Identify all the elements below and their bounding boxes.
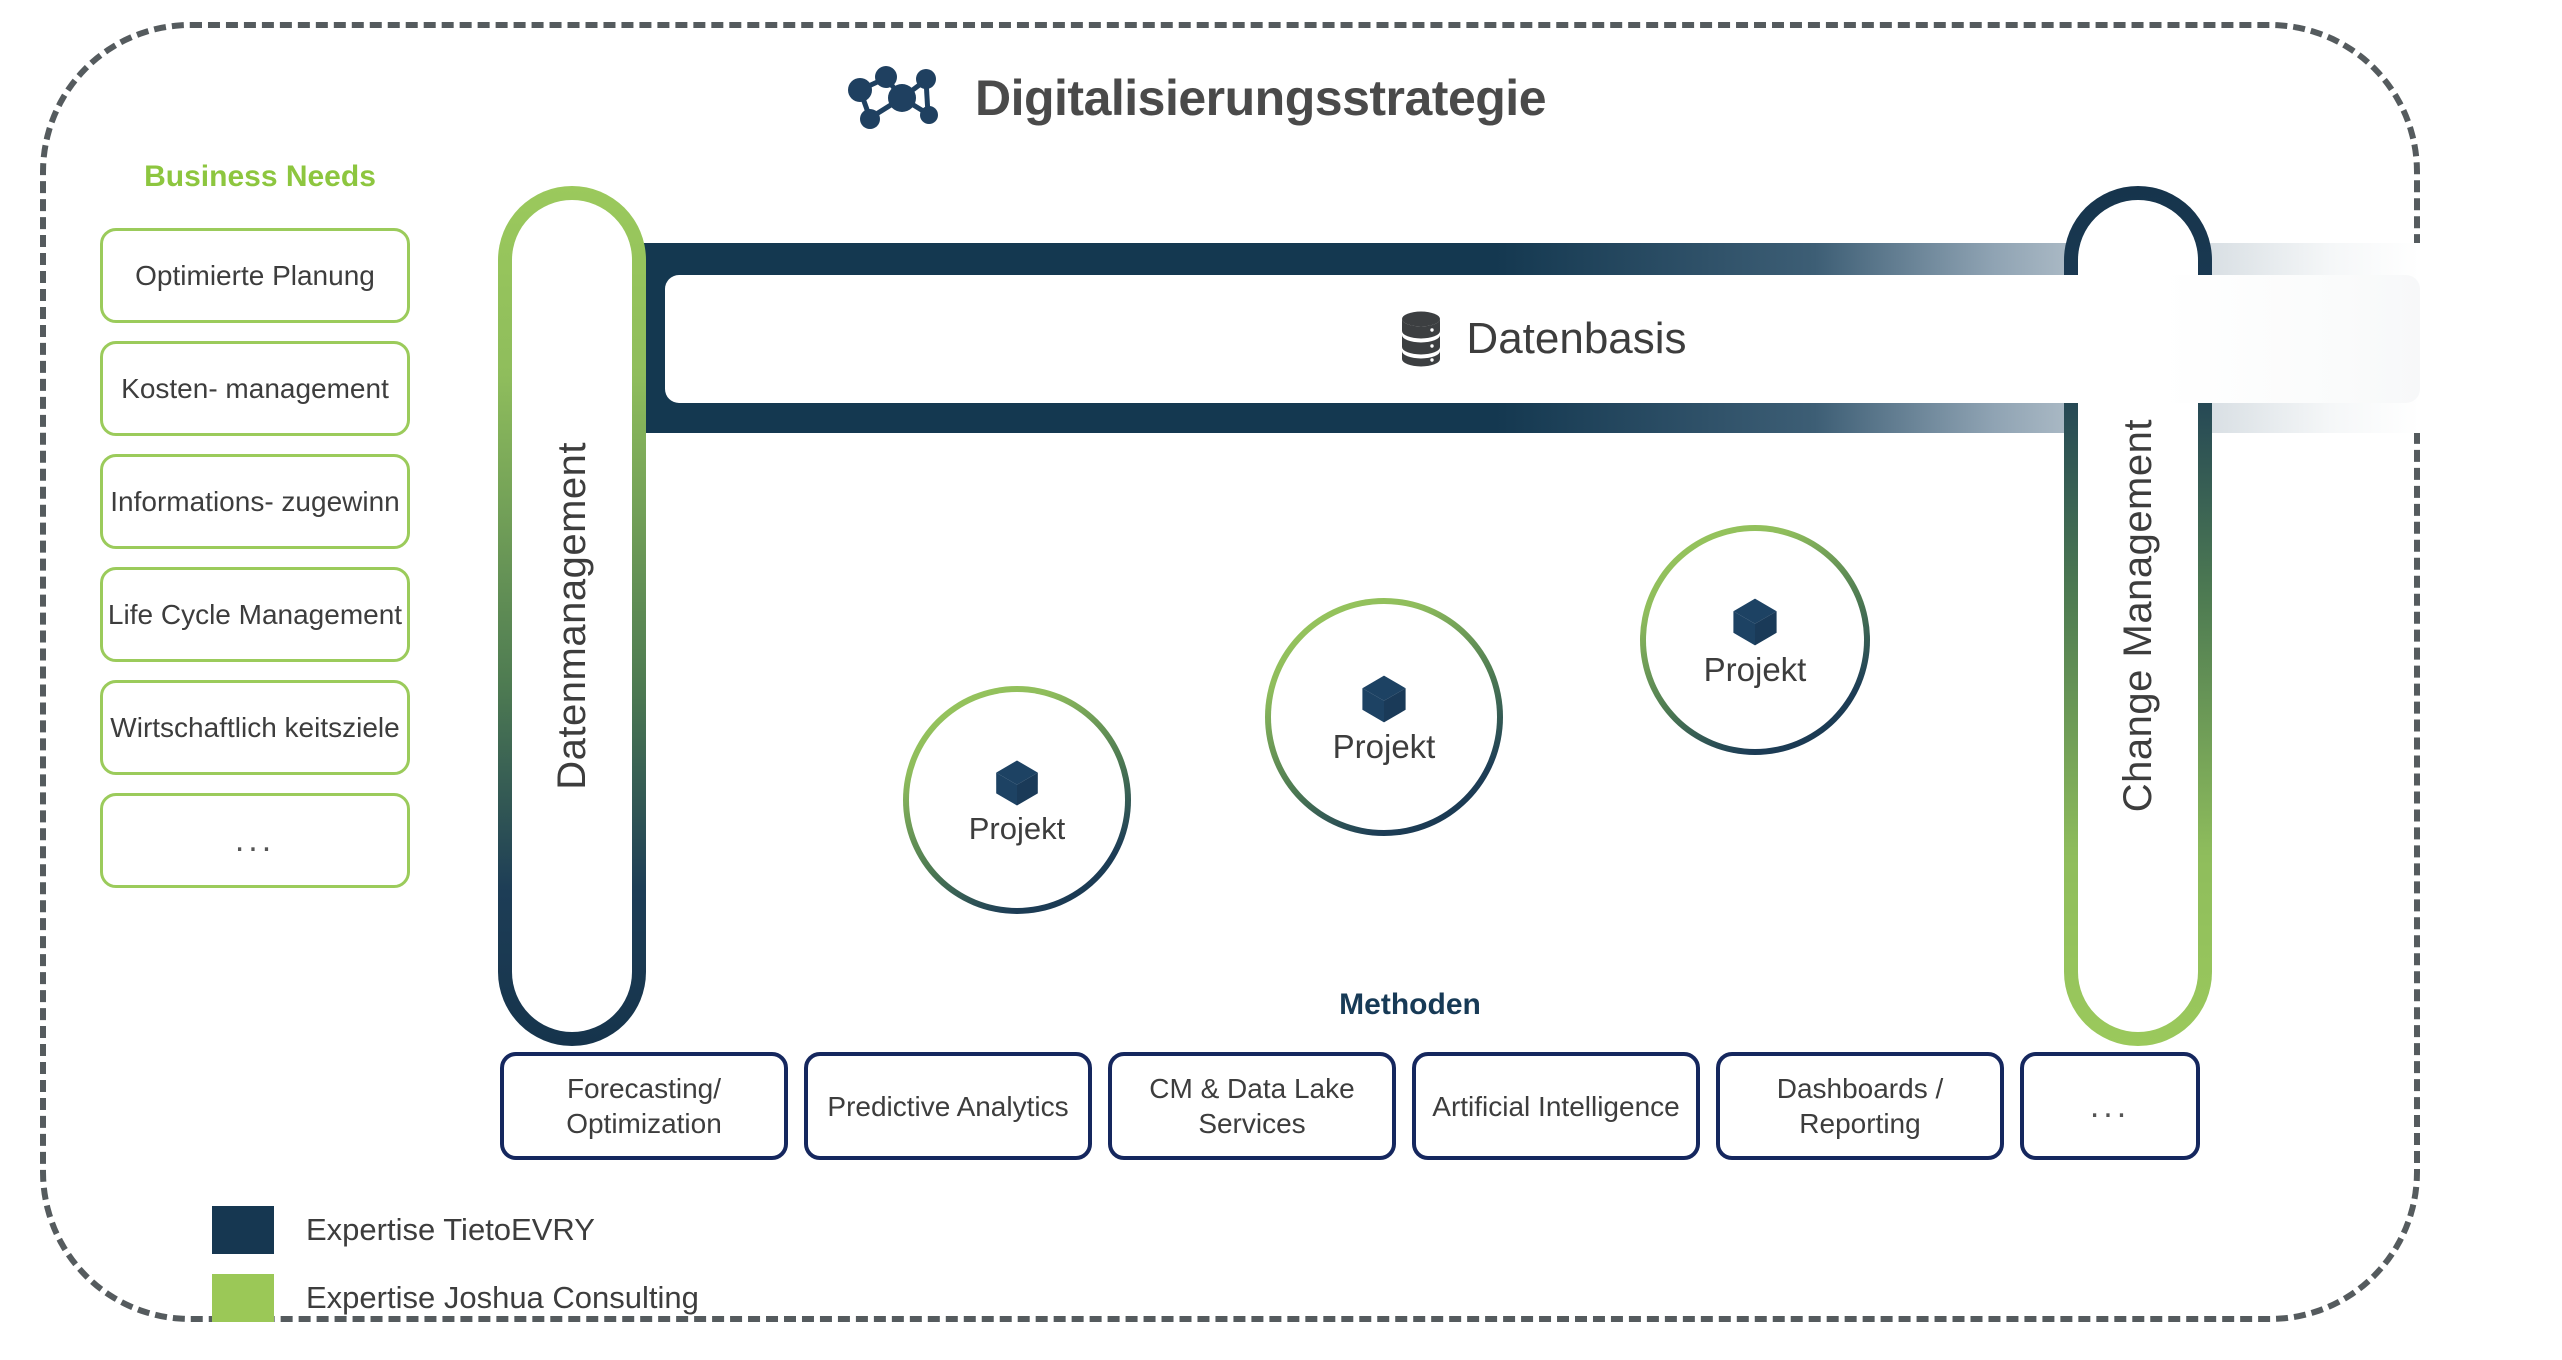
page-title: Digitalisierungsstrategie — [840, 58, 1546, 138]
business-need-item[interactable]: Life Cycle Management — [100, 567, 410, 662]
method-item[interactable]: Predictive Analytics — [804, 1052, 1092, 1160]
datenbasis-label: Datenbasis — [1466, 314, 1686, 364]
legend-label: Expertise TietoEVRY — [306, 1212, 595, 1248]
pillar-change-management-label: Change Management — [2116, 419, 2161, 812]
business-need-item[interactable]: Optimierte Planung — [100, 228, 410, 323]
business-needs-list: Optimierte Planung Kosten- management In… — [100, 228, 410, 906]
project-label: Projekt — [969, 813, 1065, 844]
method-item[interactable]: Artificial Intelligence — [1412, 1052, 1700, 1160]
pillar-datenmanagement-inner: Datenmanagement — [512, 200, 632, 1032]
business-need-more[interactable]: ... — [100, 793, 410, 888]
pillar-datenmanagement[interactable]: Datenmanagement — [498, 186, 646, 1046]
project-label: Projekt — [1333, 730, 1436, 763]
legend-row: Expertise TietoEVRY — [212, 1206, 699, 1254]
methoden-heading: Methoden — [1160, 988, 1660, 1022]
pillar-datenmanagement-label: Datenmanagement — [550, 442, 595, 790]
page-title-text: Digitalisierungsstrategie — [975, 69, 1546, 127]
legend-swatch-joshua — [212, 1274, 274, 1322]
project-circle-inner: Projekt — [909, 692, 1125, 908]
business-need-item[interactable]: Kosten- management — [100, 341, 410, 436]
business-need-item[interactable]: Wirtschaftlich keitsziele — [100, 680, 410, 775]
cube-icon — [1728, 595, 1782, 649]
project-circle-inner: Projekt — [1646, 531, 1864, 749]
legend-label: Expertise Joshua Consulting — [306, 1280, 699, 1316]
diagram-canvas: Digitalisierungsstrategie Business Needs… — [0, 0, 2562, 1360]
business-needs-heading: Business Needs — [100, 160, 420, 194]
project-circle-inner: Projekt — [1271, 604, 1497, 830]
database-icon — [1398, 310, 1444, 368]
cube-icon — [1357, 672, 1411, 726]
project-circle[interactable]: Projekt — [1640, 525, 1870, 755]
datenbasis-card[interactable]: Datenbasis — [665, 275, 2420, 403]
project-circle[interactable]: Projekt — [1265, 598, 1503, 836]
project-circle[interactable]: Projekt — [903, 686, 1131, 914]
method-item[interactable]: CM & Data Lake Services — [1108, 1052, 1396, 1160]
cube-icon — [991, 757, 1043, 809]
legend-row: Expertise Joshua Consulting — [212, 1274, 699, 1322]
legend-swatch-tietoevry — [212, 1206, 274, 1254]
method-item[interactable]: Dashboards / Reporting — [1716, 1052, 2004, 1160]
legend: Expertise TietoEVRY Expertise Joshua Con… — [212, 1206, 699, 1342]
project-label: Projekt — [1704, 653, 1807, 686]
methoden-list: Forecasting/ Optimization Predictive Ana… — [500, 1052, 2240, 1160]
business-need-item[interactable]: Informations- zugewinn — [100, 454, 410, 549]
method-more[interactable]: ... — [2020, 1052, 2200, 1160]
network-nodes-icon — [840, 58, 945, 138]
method-item[interactable]: Forecasting/ Optimization — [500, 1052, 788, 1160]
